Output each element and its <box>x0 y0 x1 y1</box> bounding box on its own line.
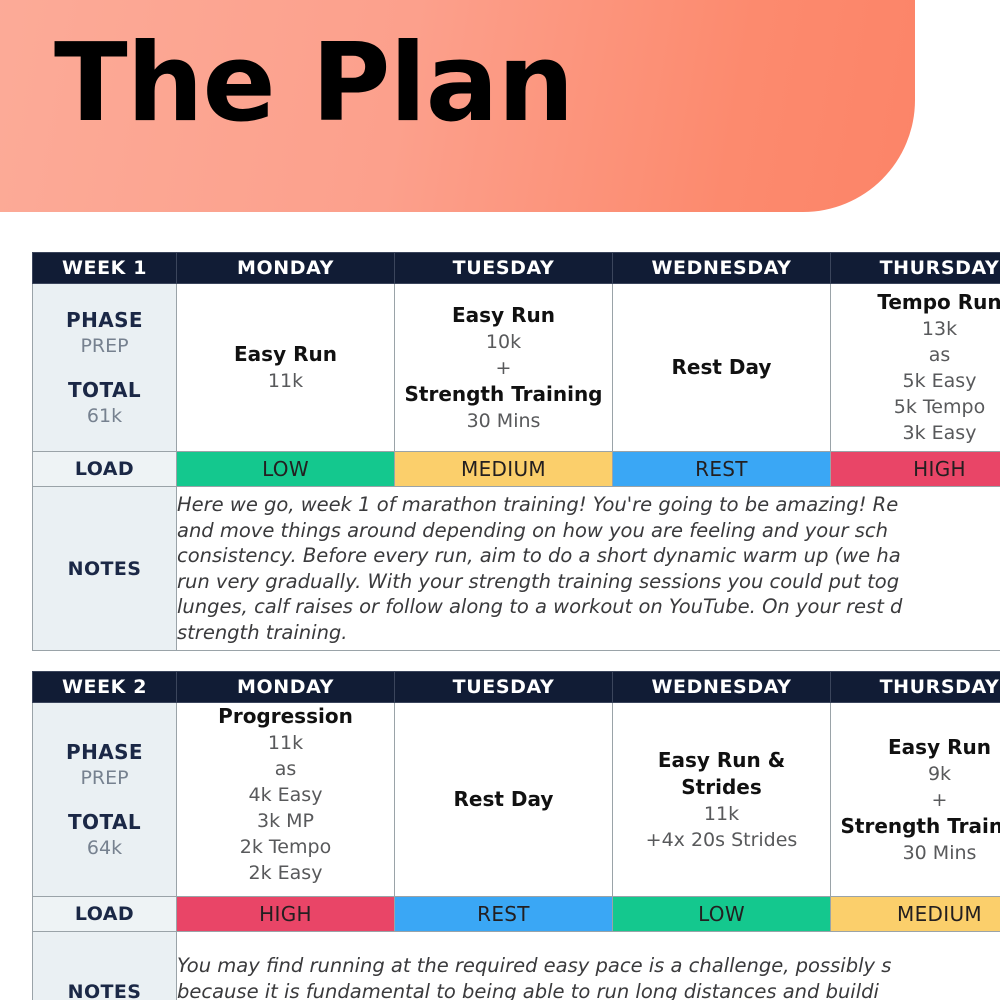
workout-detail-2: 30 Mins <box>831 840 1000 866</box>
notes-row: NOTES Here we go, week 1 of marathon tra… <box>33 487 1000 651</box>
notes-content: Here we go, week 1 of marathon training!… <box>177 487 1000 651</box>
notes-line: Here we go, week 1 of marathon training!… <box>177 492 1000 518</box>
phase-value: PREP <box>33 333 176 359</box>
workout-detail: 2k Easy <box>177 860 394 886</box>
workout-cell-wednesday: Rest Day <box>613 284 831 452</box>
workout-title-2: Strength Training <box>395 381 612 408</box>
workout-cell-tuesday: Rest Day <box>395 703 613 897</box>
phase-label: PHASE <box>33 739 176 765</box>
workout-title: Rest Day <box>613 354 830 381</box>
phase-total-cell: PHASE PREP TOTAL 64k <box>33 703 177 897</box>
notes-row: NOTES You may find running at the requir… <box>33 932 1000 1000</box>
plan-page: The Plan WEEK 1 MONDAY TUESDAY WEDNESDAY… <box>0 0 1000 1000</box>
week-2-table: WEEK 2 MONDAY TUESDAY WEDNESDAY THURSDAY… <box>32 671 1000 1000</box>
workout-title: Easy Run <box>395 302 612 329</box>
workout-title: Rest Day <box>395 786 612 813</box>
load-cell-thursday: HIGH <box>831 452 1000 487</box>
workout-title-line2: Strides <box>613 774 830 801</box>
total-label: TOTAL <box>33 377 176 403</box>
workout-detail: 4k Easy <box>177 782 394 808</box>
spacer <box>33 791 176 809</box>
workout-detail: 11k <box>613 801 830 827</box>
workout-detail: 9k <box>831 761 1000 787</box>
workout-cell-tuesday: Easy Run 10k + Strength Training 30 Mins <box>395 284 613 452</box>
header-wednesday: WEDNESDAY <box>613 253 831 284</box>
workout-detail: 2k Tempo <box>177 834 394 860</box>
workout-detail: 5k Tempo <box>831 394 1000 420</box>
week-1-table: WEEK 1 MONDAY TUESDAY WEDNESDAY THURSDAY… <box>32 252 1000 651</box>
workout-title: Progression <box>177 703 394 730</box>
header-thursday: THURSDAY <box>831 253 1000 284</box>
total-value: 61k <box>33 403 176 429</box>
header-thursday: THURSDAY <box>831 672 1000 703</box>
workout-detail: +4x 20s Strides <box>613 827 830 853</box>
workout-plus: + <box>395 355 612 381</box>
workout-title: Easy Run <box>177 341 394 368</box>
phase-label: PHASE <box>33 307 176 333</box>
total-label: TOTAL <box>33 809 176 835</box>
notes-label: NOTES <box>33 932 177 1000</box>
load-cell-wednesday: REST <box>613 452 831 487</box>
header-tuesday: TUESDAY <box>395 253 613 284</box>
workout-detail: 5k Easy <box>831 368 1000 394</box>
header-tuesday: TUESDAY <box>395 672 613 703</box>
load-cell-monday: LOW <box>177 452 395 487</box>
workout-detail-2: 30 Mins <box>395 408 612 434</box>
load-cell-tuesday: MEDIUM <box>395 452 613 487</box>
workout-detail: 11k <box>177 730 394 756</box>
workout-cell-thursday: Tempo Run 13k as 5k Easy 5k Tempo 3k Eas… <box>831 284 1000 452</box>
workout-detail: 3k Easy <box>831 420 1000 446</box>
workout-title-2: Strength Training <box>831 813 1000 840</box>
load-cell-monday: HIGH <box>177 897 395 932</box>
header-week: WEEK 2 <box>33 672 177 703</box>
notes-line: and move things around depending on how … <box>177 518 1000 544</box>
table-header-row: WEEK 2 MONDAY TUESDAY WEDNESDAY THURSDAY <box>33 672 1000 703</box>
notes-label: NOTES <box>33 487 177 651</box>
header-wednesday: WEDNESDAY <box>613 672 831 703</box>
notes-line: consistency. Before every run, aim to do… <box>177 543 1000 569</box>
workout-cell-monday: Progression 11k as 4k Easy 3k MP 2k Temp… <box>177 703 395 897</box>
table-header-row: WEEK 1 MONDAY TUESDAY WEDNESDAY THURSDAY <box>33 253 1000 284</box>
workout-row: PHASE PREP TOTAL 64k Progression 11k as … <box>33 703 1000 897</box>
load-row: LOAD LOW MEDIUM REST HIGH <box>33 452 1000 487</box>
workout-title: Easy Run & <box>613 747 830 774</box>
workout-plus: + <box>831 787 1000 813</box>
notes-line: strength training. <box>177 620 1000 646</box>
workout-row: PHASE PREP TOTAL 61k Easy Run 11k Easy R… <box>33 284 1000 452</box>
load-cell-thursday: MEDIUM <box>831 897 1000 932</box>
total-value: 64k <box>33 835 176 861</box>
notes-content: You may find running at the required eas… <box>177 932 1000 1000</box>
load-cell-tuesday: REST <box>395 897 613 932</box>
spacer <box>33 359 176 377</box>
page-title: The Plan <box>54 14 573 154</box>
phase-total-cell: PHASE PREP TOTAL 61k <box>33 284 177 452</box>
workout-detail: 11k <box>177 368 394 394</box>
notes-line: because it is fundamental to being able … <box>177 979 1000 1000</box>
load-row: LOAD HIGH REST LOW MEDIUM <box>33 897 1000 932</box>
load-label: LOAD <box>33 452 177 487</box>
workout-title: Easy Run <box>831 734 1000 761</box>
phase-value: PREP <box>33 765 176 791</box>
workout-detail: 13k <box>831 316 1000 342</box>
notes-line: run very gradually. With your strength t… <box>177 569 1000 595</box>
header-monday: MONDAY <box>177 672 395 703</box>
header-monday: MONDAY <box>177 253 395 284</box>
header-week: WEEK 1 <box>33 253 177 284</box>
load-cell-wednesday: LOW <box>613 897 831 932</box>
workout-detail: as <box>177 756 394 782</box>
notes-line: lunges, calf raises or follow along to a… <box>177 594 1000 620</box>
header-banner: The Plan <box>0 0 915 212</box>
notes-line: You may find running at the required eas… <box>177 953 1000 979</box>
workout-detail: 3k MP <box>177 808 394 834</box>
workout-cell-thursday: Easy Run 9k + Strength Training 30 Mins <box>831 703 1000 897</box>
workout-cell-monday: Easy Run 11k <box>177 284 395 452</box>
workout-detail: 10k <box>395 329 612 355</box>
workout-detail: as <box>831 342 1000 368</box>
workout-title: Tempo Run <box>831 289 1000 316</box>
load-label: LOAD <box>33 897 177 932</box>
workout-cell-wednesday: Easy Run & Strides 11k +4x 20s Strides <box>613 703 831 897</box>
